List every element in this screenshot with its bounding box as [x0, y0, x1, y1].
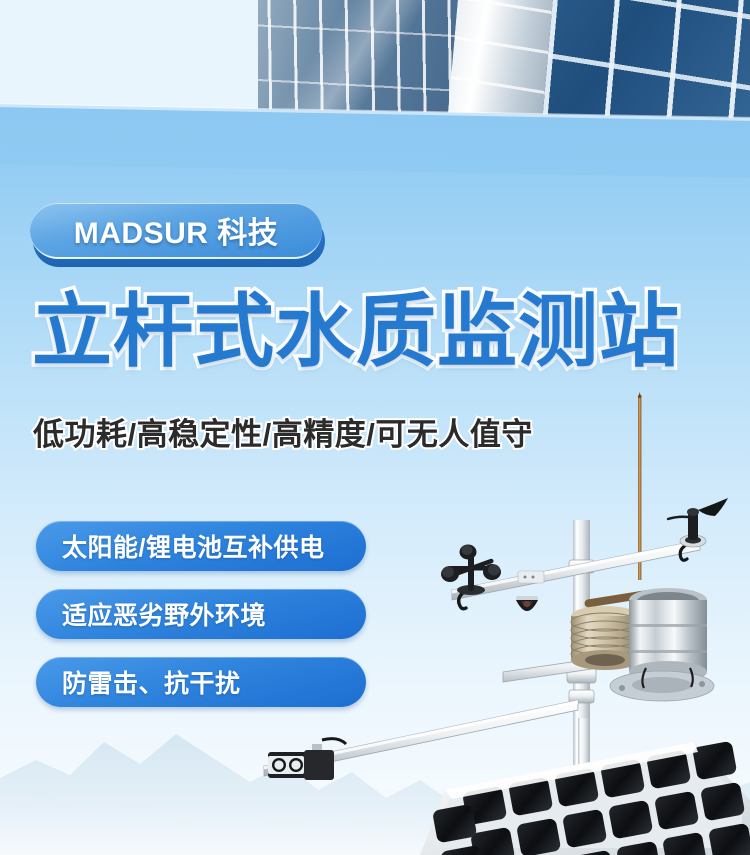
- feature-pill-label: 防雷击、抗干扰: [36, 664, 241, 700]
- brand-badge: MADSUR 科技: [30, 203, 322, 259]
- feature-pill-environment: 适应恶劣野外环境: [36, 589, 366, 639]
- brand-badge-label: MADSUR 科技: [74, 208, 279, 252]
- product-banner: MADSUR 科技 立杆式水质监测站 低功耗/高稳定性/高精度/可无人值守 太阳…: [0, 0, 750, 855]
- radiation-shield-icon: [571, 606, 639, 670]
- cup-anemometer-icon: [441, 545, 501, 609]
- page-title: 立杆式水质监测站: [32, 292, 680, 372]
- subtitle: 低功耗/高稳定性/高精度/可无人值守: [33, 409, 533, 454]
- feature-pill-power: 太阳能/锂电池互补供电: [36, 521, 366, 571]
- feature-pill-protection: 防雷击、抗干扰: [36, 657, 366, 707]
- solar-panel-icon: [420, 718, 750, 855]
- dome-camera-icon: [516, 596, 538, 611]
- feature-pill-label: 适应恶劣野外环境: [36, 596, 266, 632]
- feature-list: 太阳能/锂电池互补供电 适应恶劣野外环境 防雷击、抗干扰: [36, 521, 366, 725]
- solar-cells: [432, 741, 750, 855]
- feature-pill-label: 太阳能/锂电池互补供电: [36, 528, 324, 564]
